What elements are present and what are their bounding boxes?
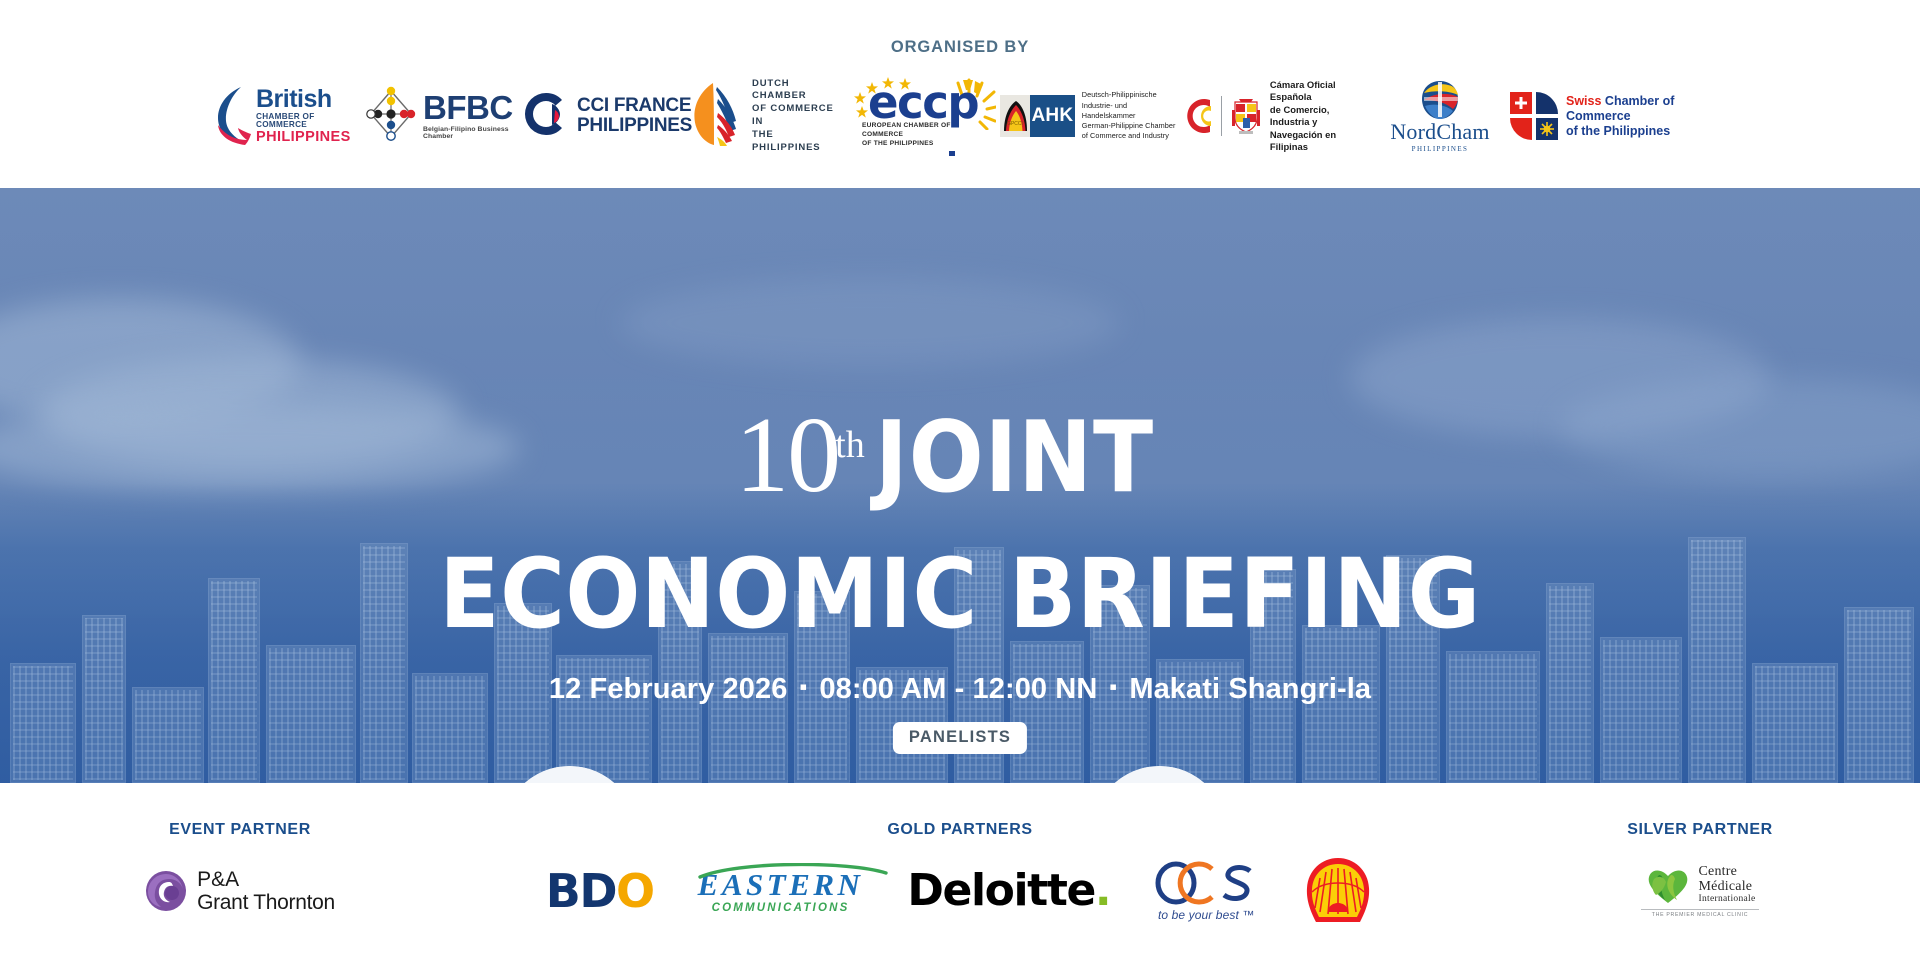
nordcham-sub: PHILIPPINES (1412, 145, 1469, 153)
ahk-line2: Deutsch-Philippinische (1082, 90, 1180, 100)
deloitte-dot: . (1095, 865, 1110, 916)
dutch-line1: DUTCH CHAMBER (752, 78, 842, 104)
panelist-item: Atty. Eleanor "Lea" Roque, JD, LLM Princ… (502, 766, 1006, 783)
eccp-dot-icon (949, 151, 955, 156)
logo-cci-france: CCI FRANCE PHILIPPINES (527, 76, 687, 156)
meta-separator-2: ▪ (1109, 674, 1117, 699)
british-swoosh-icon (215, 85, 251, 147)
logo-swiss-chamber: Swiss Chamber of Commerce of the Philipp… (1510, 76, 1705, 156)
cmi-line2: Médicale (1699, 879, 1756, 894)
british-line3: PHILIPPINES (256, 130, 365, 145)
eastern-line2: COMMUNICATIONS (698, 902, 864, 914)
edition-ordinal-suffix: th (835, 424, 865, 466)
british-line2: CHAMBER OF COMMERCE (256, 113, 365, 129)
eccp-line3: OF THE PHILIPPINES (862, 140, 990, 149)
cci-line1: CCI FRANCE (577, 96, 692, 116)
logo-british-chamber: British CHAMBER OF COMMERCE PHILIPPINES (215, 76, 365, 156)
logo-bdo: BDO (546, 868, 654, 914)
event-date: 12 February 2026 (549, 673, 788, 705)
spain-crest-icon (1229, 96, 1263, 136)
nordcham-wordmark: NordCham (1390, 121, 1489, 143)
spain-line2: de Comercio, Industria y (1270, 104, 1370, 129)
eastern-arc-icon (698, 863, 888, 881)
event-meta-line: 12 February 2026▪08:00 AM - 12:00 NN▪Mak… (0, 673, 1920, 706)
event-title-line-2: ECONOMIC BRIEFING (0, 546, 1920, 642)
partners-footer: EVENT PARTNER P&A Grant Thornton (0, 783, 1920, 961)
ocs-wordmark-icon (1154, 861, 1258, 905)
gold-partners-group: GOLD PARTNERS BDO EASTERN COMMUNICATIONS… (500, 783, 1420, 961)
avatar-eleanor-roque (502, 766, 637, 783)
panelists-list: Atty. Eleanor "Lea" Roque, JD, LLM Princ… (0, 766, 1920, 783)
gold-partners-heading: GOLD PARTNERS (500, 783, 1420, 839)
ahk-flag-icon: GPCCI (1000, 95, 1030, 137)
event-partner-heading: EVENT PARTNER (40, 783, 440, 839)
event-venue: Makati Shangri-la (1129, 673, 1371, 705)
logo-ahk: GPCCI AHK Deutsch-Philippinische Industr… (1000, 76, 1180, 156)
grant-thornton-line1: P&A (197, 868, 335, 891)
logo-ocs: to be your best ™ (1154, 861, 1258, 922)
spain-line1: Cámara Oficial Española (1270, 79, 1370, 104)
logo-dutch-chamber: DUTCH CHAMBER OF COMMERCE IN THE PHILIPP… (687, 76, 842, 156)
ahk-line5: of Commerce and Industry (1082, 131, 1180, 141)
dutch-line2: OF COMMERCE IN (752, 103, 842, 129)
grant-thornton-line2: Grant Thornton (197, 891, 335, 914)
silver-partner-group: SILVER PARTNER Centre (1520, 783, 1880, 961)
hero-section: 10thJOINT ECONOMIC BRIEFING 12 February … (0, 188, 1920, 783)
spain-c-icon (1180, 94, 1214, 138)
logo-eastern-communications: EASTERN COMMUNICATIONS (698, 869, 864, 914)
logo-eccp: eccp EUROPEAN CHAMBER OF COMMERCE OF THE… (842, 76, 1000, 156)
bfbc-line2: Belgian-Filipino Business Chamber (423, 127, 527, 141)
dutch-leaf-icon (687, 81, 743, 152)
british-line1: British (256, 87, 365, 112)
spain-line3: Navegación en Filipinas (1270, 129, 1370, 154)
logo-centre-medicale: Centre Médicale Internationale THE PREMI… (1641, 864, 1759, 917)
ahk-line4: German-Philippine Chamber (1082, 121, 1180, 131)
logo-nordcham: NordCham PHILIPPINES (1370, 76, 1510, 156)
spain-divider (1221, 96, 1222, 136)
organiser-logo-row: British CHAMBER OF COMMERCE PHILIPPINES (0, 70, 1920, 162)
nordcham-emblem-icon (1414, 79, 1466, 121)
logo-spain-chamber: Cámara Oficial Española de Comercio, Ind… (1180, 76, 1370, 156)
swiss-quadrant-icon (1510, 92, 1558, 140)
event-partner-group: EVENT PARTNER P&A Grant Thornton (40, 783, 440, 961)
logo-shell (1302, 856, 1374, 926)
grant-thornton-mark-icon (145, 870, 187, 912)
edition-ordinal: 10 (735, 396, 839, 515)
event-banner: ORGANISED BY British CHAMBER OF COMMERCE… (0, 0, 1920, 961)
title-word-joint: JOINT (875, 409, 1154, 507)
bdo-part2: O (616, 864, 654, 918)
panelists-badge: PANELISTS (893, 722, 1027, 754)
swiss-line2: of the Philippines (1566, 124, 1705, 139)
title-line2-text: ECONOMIC BRIEFING (439, 546, 1480, 642)
swiss-line1: Swiss Chamber of Commerce (1566, 94, 1705, 124)
ahk-line3: Industrie- und Handelskammer (1082, 101, 1180, 121)
ocs-tagline: to be your best ™ (1154, 908, 1258, 922)
organised-by-label: ORGANISED BY (0, 38, 1920, 57)
meta-separator-1: ▪ (799, 674, 807, 699)
cci-monogram-icon (522, 90, 570, 143)
deloitte-wordmark: Deloitte (907, 865, 1094, 916)
eccp-wordmark: eccp (868, 80, 978, 125)
bfbc-diamond-icon (365, 83, 417, 150)
bfbc-line1: BFBC (423, 91, 527, 124)
cmi-line1: Centre (1699, 864, 1756, 879)
silver-partner-heading: SILVER PARTNER (1520, 783, 1880, 839)
logo-bfbc: BFBC Belgian-Filipino Business Chamber (365, 76, 527, 156)
event-time: 08:00 AM - 12:00 NN (819, 673, 1097, 705)
cmi-tagline: THE PREMIER MEDICAL CLINIC (1652, 912, 1748, 918)
avatar-senen-quizon (1092, 766, 1227, 783)
organisers-strip: ORGANISED BY British CHAMBER OF COMMERCE… (0, 0, 1920, 188)
panelist-item: Senen Quizon Business Tax Leader Deloitt… (1092, 766, 1418, 783)
cci-line2: PHILIPPINES (577, 116, 692, 136)
logo-deloitte: Deloitte. (907, 869, 1110, 913)
svg-text:GPCCI: GPCCI (1007, 121, 1023, 127)
swiss-line1-bold: Swiss (1566, 94, 1601, 108)
ahk-wordmark: AHK (1030, 95, 1075, 137)
cmi-divider (1641, 909, 1759, 910)
event-title-line-1: 10thJOINT (0, 402, 1920, 510)
dutch-line3: THE PHILIPPINES (752, 129, 842, 155)
bdo-part1: BD (546, 864, 616, 918)
logo-pa-grant-thornton: P&A Grant Thornton (145, 868, 335, 914)
cmi-line3: Internationale (1699, 894, 1756, 904)
cmi-heart-icon (1645, 865, 1691, 905)
